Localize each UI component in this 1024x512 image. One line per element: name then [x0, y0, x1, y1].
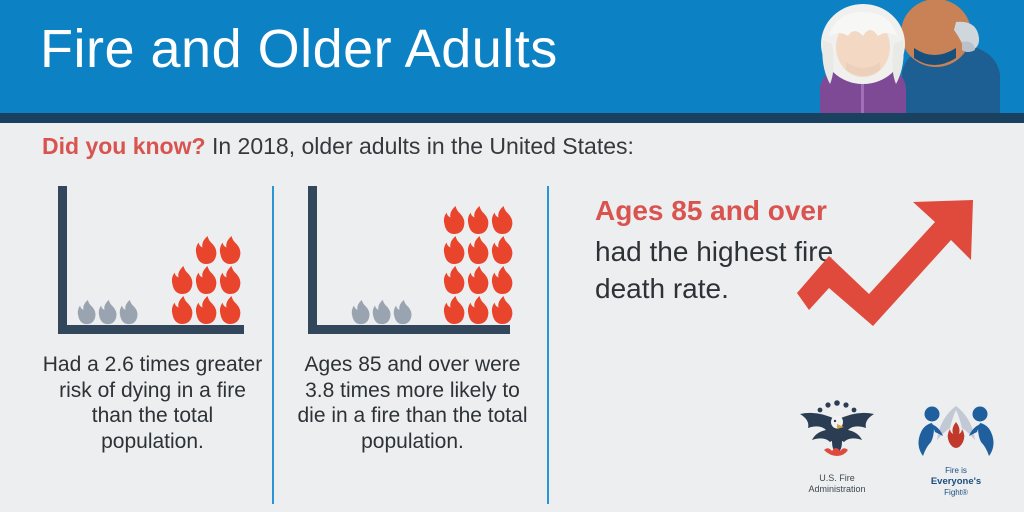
flame-icon-red — [170, 265, 194, 295]
flame-chart-2 — [290, 186, 535, 334]
flame-icon-red — [442, 265, 466, 295]
flame-icon-gray — [97, 299, 118, 325]
fire-is-everyones-fight-logo: Fire is Everyone's Fight® — [910, 398, 1002, 498]
flame-icon-red — [466, 295, 490, 325]
stat-panel-1: Had a 2.6 times greater risk of dying in… — [40, 186, 265, 454]
usfa-caption-line-1: U.S. Fire — [819, 473, 855, 483]
chart-1-red-flames — [170, 235, 242, 325]
usfa-logo-caption: U.S. Fire Administration — [782, 473, 892, 496]
fief-people-flame-icon — [910, 398, 1002, 460]
flame-icon-red — [490, 205, 514, 235]
chart-1-x-axis — [58, 325, 244, 334]
flame-row — [442, 235, 514, 265]
chart-1-gray-flames — [76, 299, 139, 325]
flame-icon-gray — [350, 299, 371, 325]
subhead-lead: Did you know? — [42, 133, 206, 159]
subhead-rest: In 2018, older adults in the United Stat… — [212, 133, 634, 159]
flame-icon-gray — [118, 299, 139, 325]
upward-trend-arrow — [795, 198, 985, 343]
flame-row — [76, 299, 139, 325]
stat-panel-2: Ages 85 and over were 3.8 times more lik… — [290, 186, 535, 454]
flame-icon-red — [194, 295, 218, 325]
flame-icon-red — [218, 295, 242, 325]
flame-icon-red — [194, 265, 218, 295]
flame-icon-red — [466, 265, 490, 295]
flame-row — [442, 265, 514, 295]
flame-row — [442, 295, 514, 325]
flame-row — [170, 265, 242, 295]
logo-group: U.S. Fire Administration Fire is — [782, 398, 1007, 503]
flame-chart-1 — [40, 186, 265, 334]
chart-2-red-flames — [442, 205, 514, 325]
flame-icon-red — [194, 235, 218, 265]
flame-icon-red — [442, 235, 466, 265]
us-fire-administration-logo: U.S. Fire Administration — [782, 398, 892, 496]
flame-icon-red — [170, 295, 194, 325]
fief-caption-line-2: Everyone's — [910, 476, 1002, 488]
header-bottom-rule — [0, 113, 1024, 123]
panel-divider-1 — [272, 186, 274, 504]
flame-row — [170, 295, 242, 325]
infographic-page: Fire and Older Adults — [0, 0, 1024, 512]
flame-icon-red — [442, 295, 466, 325]
flame-icon-red — [466, 205, 490, 235]
page-title: Fire and Older Adults — [40, 18, 558, 80]
flame-icon-red — [218, 265, 242, 295]
panel-divider-2 — [547, 186, 549, 504]
flame-row — [194, 235, 242, 265]
chart-2-x-axis — [308, 325, 510, 334]
flame-row — [442, 205, 514, 235]
fief-caption-line-1: Fire is — [910, 466, 1002, 476]
flame-row — [350, 299, 413, 325]
fief-logo-caption: Fire is Everyone's Fight® — [910, 466, 1002, 498]
flame-icon-red — [490, 295, 514, 325]
stat-caption-2: Ages 85 and over were 3.8 times more lik… — [290, 352, 535, 454]
flame-icon-gray — [371, 299, 392, 325]
flame-icon-red — [490, 265, 514, 295]
header-banner: Fire and Older Adults — [0, 0, 1024, 113]
fief-caption-line-3: Fight® — [910, 488, 1002, 498]
older-couple-illustration — [774, 0, 1024, 113]
flame-icon-gray — [392, 299, 413, 325]
flame-icon-red — [442, 205, 466, 235]
chart-2-y-axis — [308, 186, 317, 329]
usfa-eagle-icon — [782, 398, 892, 466]
flame-icon-red — [490, 235, 514, 265]
usfa-caption-line-2: Administration — [808, 484, 865, 494]
flame-icon-gray — [76, 299, 97, 325]
highlight-panel: Ages 85 and over had the highest fire de… — [595, 196, 1015, 307]
subhead: Did you know? In 2018, older adults in t… — [42, 133, 634, 160]
flame-icon-red — [218, 235, 242, 265]
stat-caption-1: Had a 2.6 times greater risk of dying in… — [40, 352, 265, 454]
chart-2-gray-flames — [350, 299, 413, 325]
flame-icon-red — [466, 235, 490, 265]
chart-1-y-axis — [58, 186, 67, 329]
